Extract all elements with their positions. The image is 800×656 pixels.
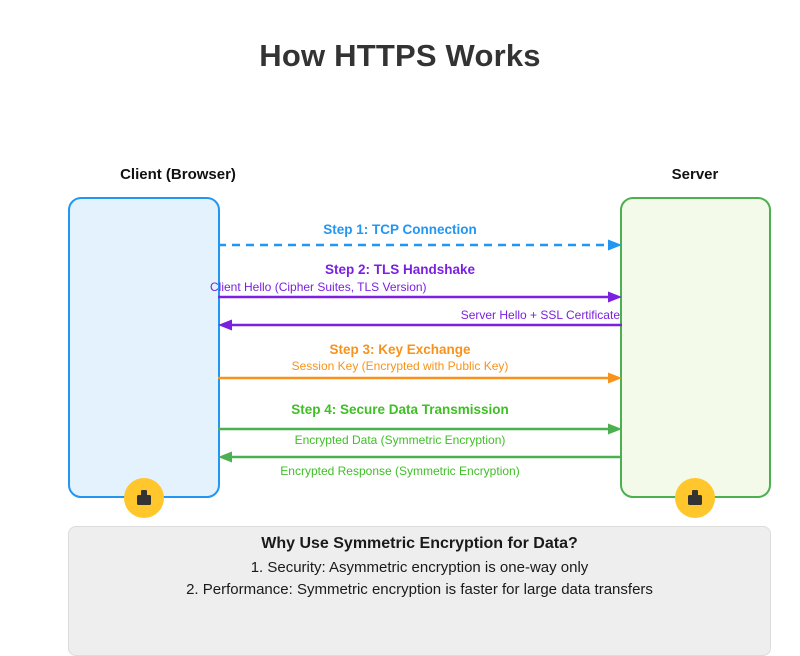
server-actor-label: Server: [535, 166, 800, 183]
server-lock-icon: [675, 478, 715, 518]
client-lock-icon: [124, 478, 164, 518]
step-1-heading: Step 1: TCP Connection: [120, 222, 680, 237]
step-4-message-1-label: Encrypted Data (Symmetric Encryption): [120, 433, 680, 447]
info-panel-line-2: 2. Performance: Symmetric encryption is …: [69, 579, 770, 601]
step-2-arrow-right: [218, 290, 622, 304]
step-1-arrow-right: [218, 238, 622, 252]
client-actor-label: Client (Browser): [18, 166, 338, 183]
page-title: How HTTPS Works: [0, 38, 800, 74]
https-sequence-diagram: How HTTPS Works Client (Browser) Server …: [0, 0, 800, 599]
info-panel-title: Why Use Symmetric Encryption for Data?: [69, 535, 770, 553]
step-2-heading: Step 2: TLS Handshake: [120, 262, 680, 277]
step-2-arrow-left: [218, 318, 622, 332]
step-4-arrow-left: [218, 450, 622, 464]
step-4-message-2-label: Encrypted Response (Symmetric Encryption…: [120, 464, 680, 478]
step-4-heading: Step 4: Secure Data Transmission: [120, 402, 680, 417]
info-panel-line-1: 1. Security: Asymmetric encryption is on…: [69, 557, 770, 579]
info-panel: Why Use Symmetric Encryption for Data? 1…: [68, 526, 771, 656]
step-3-arrow-right: [218, 371, 622, 385]
step-3-heading: Step 3: Key Exchange: [120, 342, 680, 357]
